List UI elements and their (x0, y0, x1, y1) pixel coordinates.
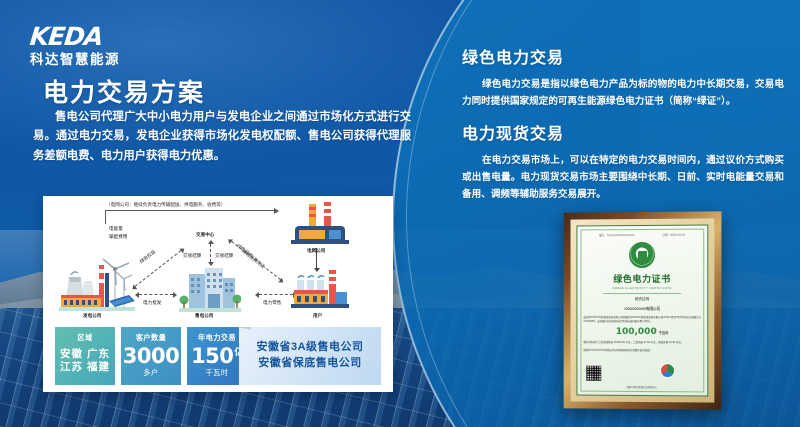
diagram-label-settlement-right: 交易结算 (215, 253, 233, 260)
section-body-spot: 在电力交易市场上，可以在特定的电力交易时间内，通过议价方式购买或出售电量。电力现… (462, 152, 784, 203)
generator-plant-icon (59, 251, 135, 311)
page-intro-paragraph: 售电公司代理广大中小电力用户与发电企业之间通过市场化方式进行交易。通过电力交易，… (33, 108, 411, 166)
certificate-amount-unit: 千瓦时 (659, 331, 669, 335)
region-guangdong: 广东 (87, 348, 110, 360)
diagram-node-generator: 发电公司 (83, 313, 101, 320)
diagram-node-user: 用户 (313, 313, 322, 320)
stat-card-annual-volume: 年电力交易 150亿 千瓦时 (187, 327, 247, 385)
diagram-node-retailer: 售电公司 (195, 313, 213, 320)
retailer-building-icon (179, 266, 241, 312)
stat-card-region: 区域 安徽 广东 江苏 福建 · · · · · · (55, 327, 115, 385)
diagram-card: （电网公司：继续负责电力传输配送、供电服务、收费等） 电能量 输配费用 交易中心… (43, 196, 393, 392)
section-spot-power-trading: 电力现货交易 在电力交易市场上，可以在特定的电力交易时间内，通过议价方式购买或出… (462, 120, 784, 203)
stat-unit-kwh: 千瓦时 (187, 368, 247, 378)
power-trading-diagram: （电网公司：继续负责电力传输配送、供电服务、收费等） 电能量 输配费用 交易中心… (43, 196, 393, 324)
stat-region-values: 安徽 广东 江苏 福建 (55, 348, 115, 374)
certificate-amount-value: 100,000 (616, 327, 657, 337)
diagram-arrow-settlement (210, 244, 211, 262)
diagram-label-transfer-fee: 输配费用 (109, 234, 127, 241)
certificate-subtitle: 碳资证明 (577, 297, 707, 302)
diagram-label-green-rights: 绿色权益 (139, 249, 158, 266)
green-electricity-certificate: 编号：XXXXXXXXXXXXXXXX 日期：20XX-XX-XX 绿色电力证书… (576, 225, 708, 397)
qualification-line-2: 安徽省保底售电公司 (258, 356, 362, 372)
diagram-grid-note: （电网公司：继续负责电力传输配送、供电服务、收费等） (106, 202, 225, 208)
diagram-arrow-retail (259, 294, 293, 295)
region-jiangsu: 江苏 (60, 361, 83, 373)
certificate-paragraph: 兹证明XXXXXX新能源发电有限公司所属的XXXXXX新能源发电有限公司XX年X… (583, 316, 701, 324)
qualification-watermark: KEDA (239, 327, 256, 330)
certificate-number: 编号：XXXXXXXXXXXXXXXX (599, 233, 634, 237)
certificate-company: XXXXXXXXXX有限公司 (577, 306, 707, 312)
diagram-node-grid: 电网公司 (307, 248, 325, 255)
qualification-line-1: 安徽省3A级售电公司 (256, 340, 363, 356)
stats-row: 区域 安徽 广东 江苏 福建 · · · · · · 客户数量 3000 多户 … (55, 327, 247, 385)
section-title-spot: 电力现货交易 (462, 120, 784, 144)
certificate-issuer: 国家可再生能源信息管理中心 (577, 385, 707, 390)
diagram-label-settlement-left: 交易结算 (183, 253, 201, 260)
certificate-divider (603, 293, 681, 294)
diagram-arrow-wholesale (139, 294, 173, 295)
section-title-green: 绿色电力交易 (462, 44, 784, 68)
stat-title-annual-volume: 年电力交易 (187, 333, 247, 343)
page-title: 电力交易方案 (43, 73, 205, 109)
section-green-power-trading: 绿色电力交易 绿色电力交易是指以绿色电力产品为标的物的电力中长期交易，交易电力同… (462, 44, 784, 110)
section-body-green: 绿色电力交易是指以绿色电力产品为标的物的电力中长期交易，交易电力同时提供国家规定… (462, 76, 784, 110)
region-fujian: 福建 (87, 361, 110, 373)
diagram-label-retail: 电力零售 (263, 300, 281, 307)
certificate-title: 绿色电力证书 (577, 272, 707, 285)
certificate-footer-note: 感谢XXXXXXXXXX有限公司对中国绿色电力消费作出的贡献！ (583, 348, 701, 352)
diagram-grid-bracket (105, 210, 275, 224)
grid-company-icon (291, 202, 349, 246)
logo-subtitle: 科达智慧能源 (30, 53, 120, 67)
certificate-detail: 相应中和减少二氧化碳排放 49,800.00 千克，二氧化硫 47.00 千克，… (583, 340, 701, 344)
certificate-header: 编号：XXXXXXXXXXXXXXXX 日期：20XX-XX-XX (577, 233, 707, 238)
certificate-issuer-logo-icon (660, 363, 675, 378)
stat-value-annual-volume: 150亿 (187, 345, 247, 367)
brand-logo: KEDA 科达智慧能源 (30, 24, 120, 67)
certificate-frame: 编号：XXXXXXXXXXXXXXXX 日期：20XX-XX-XX 绿色电力证书… (564, 211, 722, 409)
stat-unit-customers: 多户 (121, 368, 181, 378)
region-anhui: 安徽 (60, 348, 83, 360)
stat-title-region: 区域 (55, 333, 115, 343)
diagram-label-energy: 电能量 (109, 226, 123, 233)
certificate-mat: 编号：XXXXXXXXXXXXXXXX 日期：20XX-XX-XX 绿色电力证书… (571, 218, 715, 402)
certificate-amount: 100,000千瓦时 (577, 327, 707, 337)
stat-number: 150 (191, 344, 233, 368)
stat-dots: · · · · · · (55, 376, 115, 381)
certificate-date: 日期：20XX-XX-XX (662, 233, 685, 237)
diagram-arrow-green-rights (135, 250, 181, 286)
diagram-label-wholesale: 电力批发 (143, 300, 161, 307)
diagram-label-trading-center: 交易中心 (196, 232, 214, 239)
user-factory-icon (291, 268, 349, 312)
stat-title-customers: 客户数量 (121, 333, 181, 343)
logo-wordmark: KEDA (29, 24, 122, 49)
certificate-title-en: GREEN ELECTRICITY CERTIFICATE (577, 286, 707, 290)
qualification-badge: KEDA 安徽省3A级售电公司 安徽省保底售电公司 (239, 327, 381, 385)
stat-value-customers: 3000 (121, 345, 181, 367)
slide-canvas: KEDA 科达智慧能源 电力交易方案 售电公司代理广大中小电力用户与发电企业之间… (0, 0, 800, 427)
certificate-seal-icon (629, 242, 655, 268)
certificate-qr-code (586, 366, 601, 381)
stat-card-customers: 客户数量 3000 多户 (121, 327, 181, 385)
